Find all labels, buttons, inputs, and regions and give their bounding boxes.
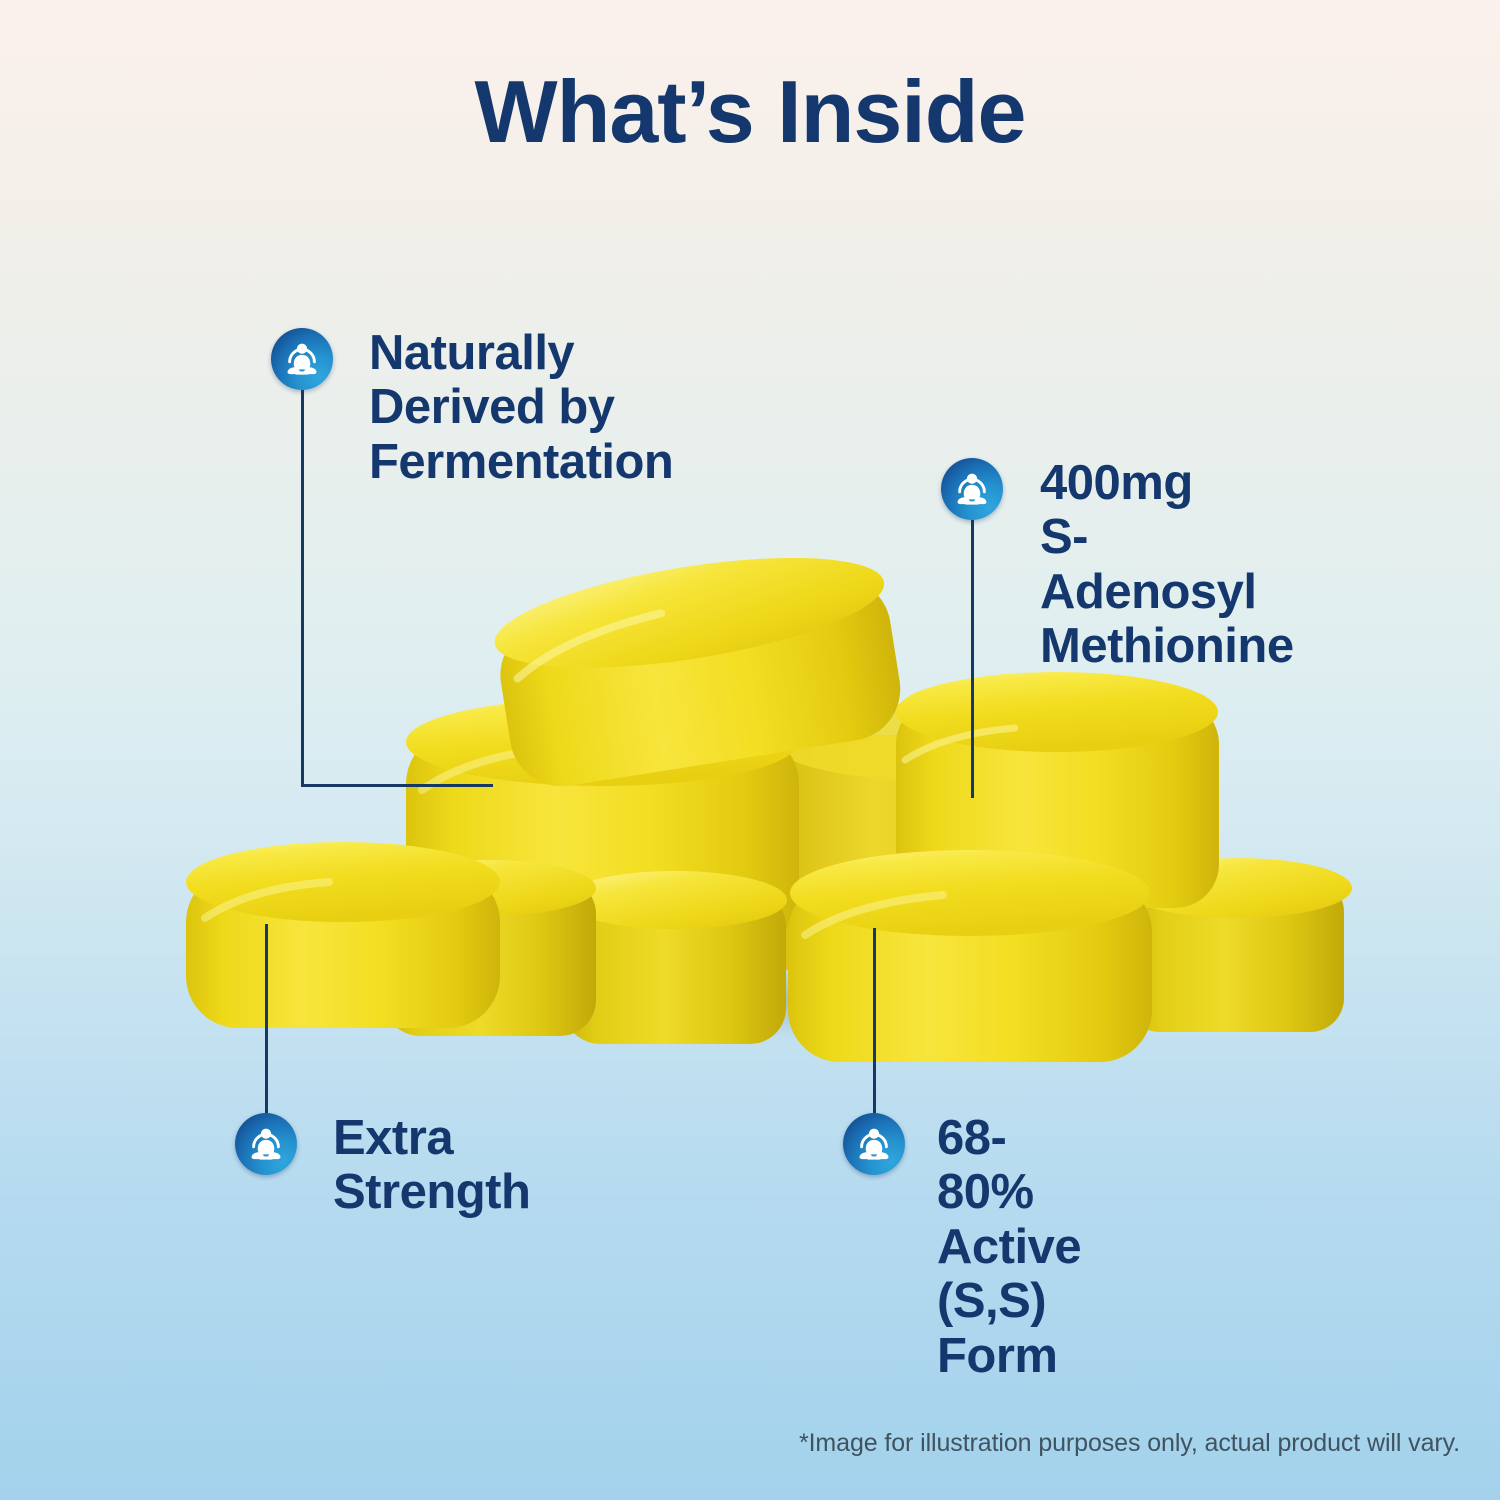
callout-label-naturally-derived: Naturally Derived by Fermentation bbox=[369, 326, 673, 489]
meditation-person-icon bbox=[843, 1113, 905, 1175]
meditation-person-icon bbox=[941, 458, 1003, 520]
callout-label-active-form: 68-80% Active (S,S) Form bbox=[937, 1111, 1081, 1383]
leader-line-vertical bbox=[971, 520, 974, 798]
page-title: What’s Inside bbox=[0, 66, 1500, 158]
disclaimer-footnote: *Image for illustration purposes only, a… bbox=[799, 1429, 1460, 1458]
leader-line-vertical bbox=[873, 928, 876, 1115]
meditation-person-icon bbox=[235, 1113, 297, 1175]
pill-pile-image bbox=[0, 0, 1500, 1500]
leader-line-vertical bbox=[265, 924, 268, 1115]
leader-line-horizontal bbox=[301, 784, 493, 787]
callout-label-extra-strength: Extra Strength bbox=[333, 1111, 530, 1220]
infographic-canvas: What’s Inside bbox=[0, 0, 1500, 1500]
meditation-person-icon bbox=[271, 328, 333, 390]
leader-line-vertical bbox=[301, 390, 304, 787]
callout-label-dosage: 400mg S-Adenosyl Methionine bbox=[1040, 456, 1294, 674]
